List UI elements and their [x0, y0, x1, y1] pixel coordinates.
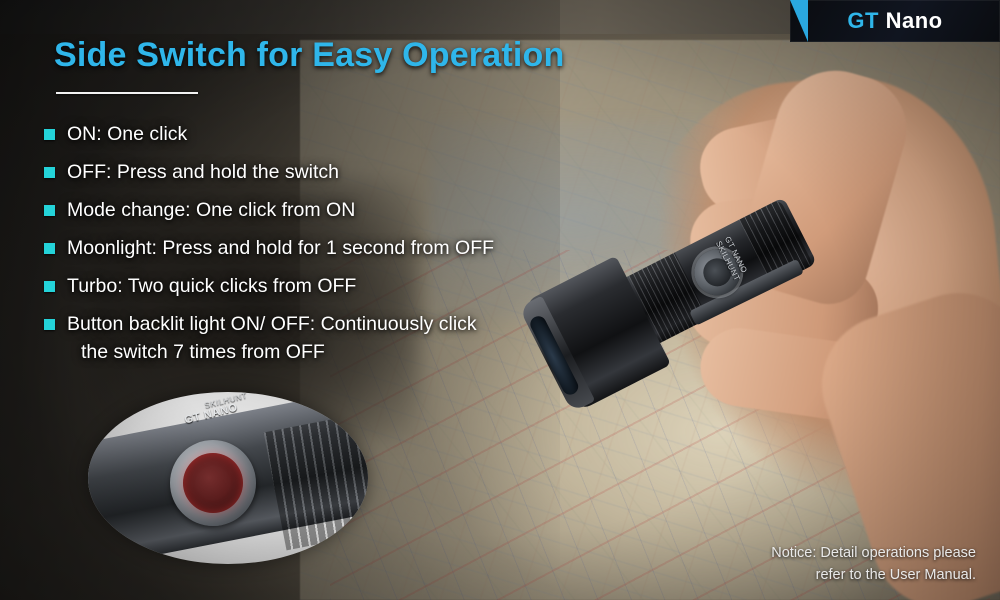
bullet-square-icon — [44, 243, 55, 254]
bullet-square-icon — [44, 319, 55, 330]
brand-logo: GT Nano — [790, 0, 1000, 42]
bullet-square-icon — [44, 129, 55, 140]
list-item: Button backlit light ON/ OFF: Continuous… — [44, 310, 664, 366]
notice-line-2: refer to the User Manual. — [771, 564, 976, 586]
bullet-square-icon — [44, 167, 55, 178]
bullet-square-icon — [44, 281, 55, 292]
list-item: Moonlight: Press and hold for 1 second f… — [44, 234, 664, 262]
notice-line-1: Notice: Detail operations please — [771, 542, 976, 564]
list-item-label: OFF: Press and hold the switch — [67, 158, 339, 186]
logo-text-gt: GT — [847, 8, 879, 33]
list-item-label-line2: the switch 7 times from OFF — [81, 338, 477, 366]
list-item-label: Button backlit light ON/ OFF: Continuous… — [67, 313, 477, 335]
list-item-label-wrapper: Button backlit light ON/ OFF: Continuous… — [67, 310, 477, 366]
title-underline — [56, 92, 198, 94]
slide-root: GT NANO SKILHUNT GT NANO SKILHUNT GT Nan… — [0, 0, 1000, 600]
switch-closeup-inset: GT NANO SKILHUNT — [88, 392, 368, 564]
operation-list: ON: One click OFF: Press and hold the sw… — [44, 120, 664, 376]
notice-text: Notice: Detail operations please refer t… — [771, 542, 976, 586]
list-item-label: ON: One click — [67, 120, 187, 148]
list-item-label: Mode change: One click from ON — [67, 196, 355, 224]
logo-text-nano: Nano — [886, 8, 943, 33]
list-item: ON: One click — [44, 120, 664, 148]
page-title: Side Switch for Easy Operation — [54, 36, 564, 75]
list-item: Turbo: Two quick clicks from OFF — [44, 272, 664, 300]
list-item: Mode change: One click from ON — [44, 196, 664, 224]
logo-text: GT Nano — [847, 8, 942, 34]
bullet-square-icon — [44, 205, 55, 216]
list-item: OFF: Press and hold the switch — [44, 158, 664, 186]
logo-accent-corner — [790, 0, 808, 42]
list-item-label: Moonlight: Press and hold for 1 second f… — [67, 234, 494, 262]
list-item-label: Turbo: Two quick clicks from OFF — [67, 272, 356, 300]
